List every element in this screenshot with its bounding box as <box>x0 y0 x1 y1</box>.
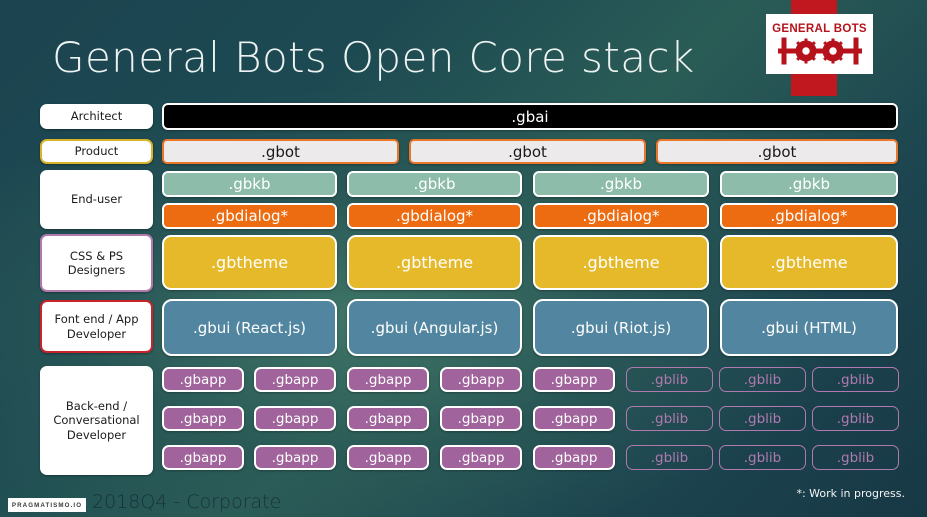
layer-cell-gbapp[interactable]: .gbapp <box>254 367 336 392</box>
role-label-architect: Architect <box>40 104 153 129</box>
layer-cell-gblib[interactable]: .gblib <box>719 445 806 470</box>
layer-cell-gblib[interactable]: .gblib <box>812 445 899 470</box>
layer-cell-gbdialog[interactable]: .gbdialog* <box>347 203 522 229</box>
layer-cell-gblib[interactable]: .gblib <box>719 406 806 431</box>
layer-cell-gbkb[interactable]: .gbkb <box>162 171 337 197</box>
layer-cell-gbapp[interactable]: .gbapp <box>162 445 244 470</box>
layer-cell-gbapp[interactable]: .gbapp <box>162 406 244 431</box>
layer-cell-gbapp[interactable]: .gbapp <box>440 406 522 431</box>
layer-cell-gbot[interactable]: .gbot <box>656 139 898 164</box>
slide-root: GENERAL BOTS <box>0 0 927 517</box>
layer-cell-gbui-html[interactable]: .gbui (HTML) <box>720 299 898 356</box>
layer-cell-gbapp[interactable]: .gbapp <box>533 406 615 431</box>
role-label-end-user: End-user <box>40 170 153 229</box>
layer-cell-gbui-riot[interactable]: .gbui (Riot.js) <box>533 299 709 356</box>
layer-cell-gbapp[interactable]: .gbapp <box>347 367 429 392</box>
role-label-frontend-app-developer: Font end / App Developer <box>40 300 153 353</box>
layer-cell-gbui-angular[interactable]: .gbui (Angular.js) <box>347 299 522 356</box>
layer-cell-gbdialog[interactable]: .gbdialog* <box>720 203 898 229</box>
layer-cell-gbapp[interactable]: .gbapp <box>440 367 522 392</box>
stack-diagram: Architect Product End-user CSS & PS Desi… <box>0 0 927 517</box>
role-label-css-ps-designers: CSS & PS Designers <box>40 234 153 292</box>
layer-cell-gblib[interactable]: .gblib <box>719 367 806 392</box>
layer-cell-gbtheme[interactable]: .gbtheme <box>347 235 522 290</box>
layer-cell-gbapp[interactable]: .gbapp <box>440 445 522 470</box>
layer-cell-gbkb[interactable]: .gbkb <box>720 171 898 197</box>
layer-cell-gbapp[interactable]: .gbapp <box>347 406 429 431</box>
layer-cell-gbtheme[interactable]: .gbtheme <box>720 235 898 290</box>
pragmatismo-badge: PRAGMATISMO.IO <box>8 498 86 512</box>
layer-cell-gbot[interactable]: .gbot <box>162 139 399 164</box>
role-label-product: Product <box>40 139 153 164</box>
layer-cell-gbapp[interactable]: .gbapp <box>533 367 615 392</box>
layer-cell-gbtheme[interactable]: .gbtheme <box>162 235 337 290</box>
layer-cell-gbapp[interactable]: .gbapp <box>254 445 336 470</box>
layer-cell-gbui-react[interactable]: .gbui (React.js) <box>162 299 337 356</box>
layer-cell-gbapp[interactable]: .gbapp <box>254 406 336 431</box>
layer-cell-gbdialog[interactable]: .gbdialog* <box>162 203 337 229</box>
layer-cell-gbapp[interactable]: .gbapp <box>347 445 429 470</box>
layer-cell-gbot[interactable]: .gbot <box>409 139 646 164</box>
layer-cell-gblib[interactable]: .gblib <box>626 445 713 470</box>
layer-cell-gblib[interactable]: .gblib <box>626 367 713 392</box>
role-label-backend-conversational-developer: Back-end / Conversational Developer <box>40 366 153 475</box>
layer-cell-gblib[interactable]: .gblib <box>812 406 899 431</box>
work-in-progress-note: *: Work in progress. <box>796 487 905 500</box>
layer-cell-gblib[interactable]: .gblib <box>626 406 713 431</box>
layer-cell-gbapp[interactable]: .gbapp <box>533 445 615 470</box>
layer-cell-gblib[interactable]: .gblib <box>812 367 899 392</box>
layer-cell-gbdialog[interactable]: .gbdialog* <box>533 203 709 229</box>
layer-cell-gbkb[interactable]: .gbkb <box>533 171 709 197</box>
layer-cell-gbapp[interactable]: .gbapp <box>162 367 244 392</box>
layer-cell-gbkb[interactable]: .gbkb <box>347 171 522 197</box>
layer-cell-gbtheme[interactable]: .gbtheme <box>533 235 709 290</box>
footer-caption: 2018Q4 - Corporate <box>92 491 281 513</box>
layer-cell-gbai[interactable]: .gbai <box>162 103 898 130</box>
